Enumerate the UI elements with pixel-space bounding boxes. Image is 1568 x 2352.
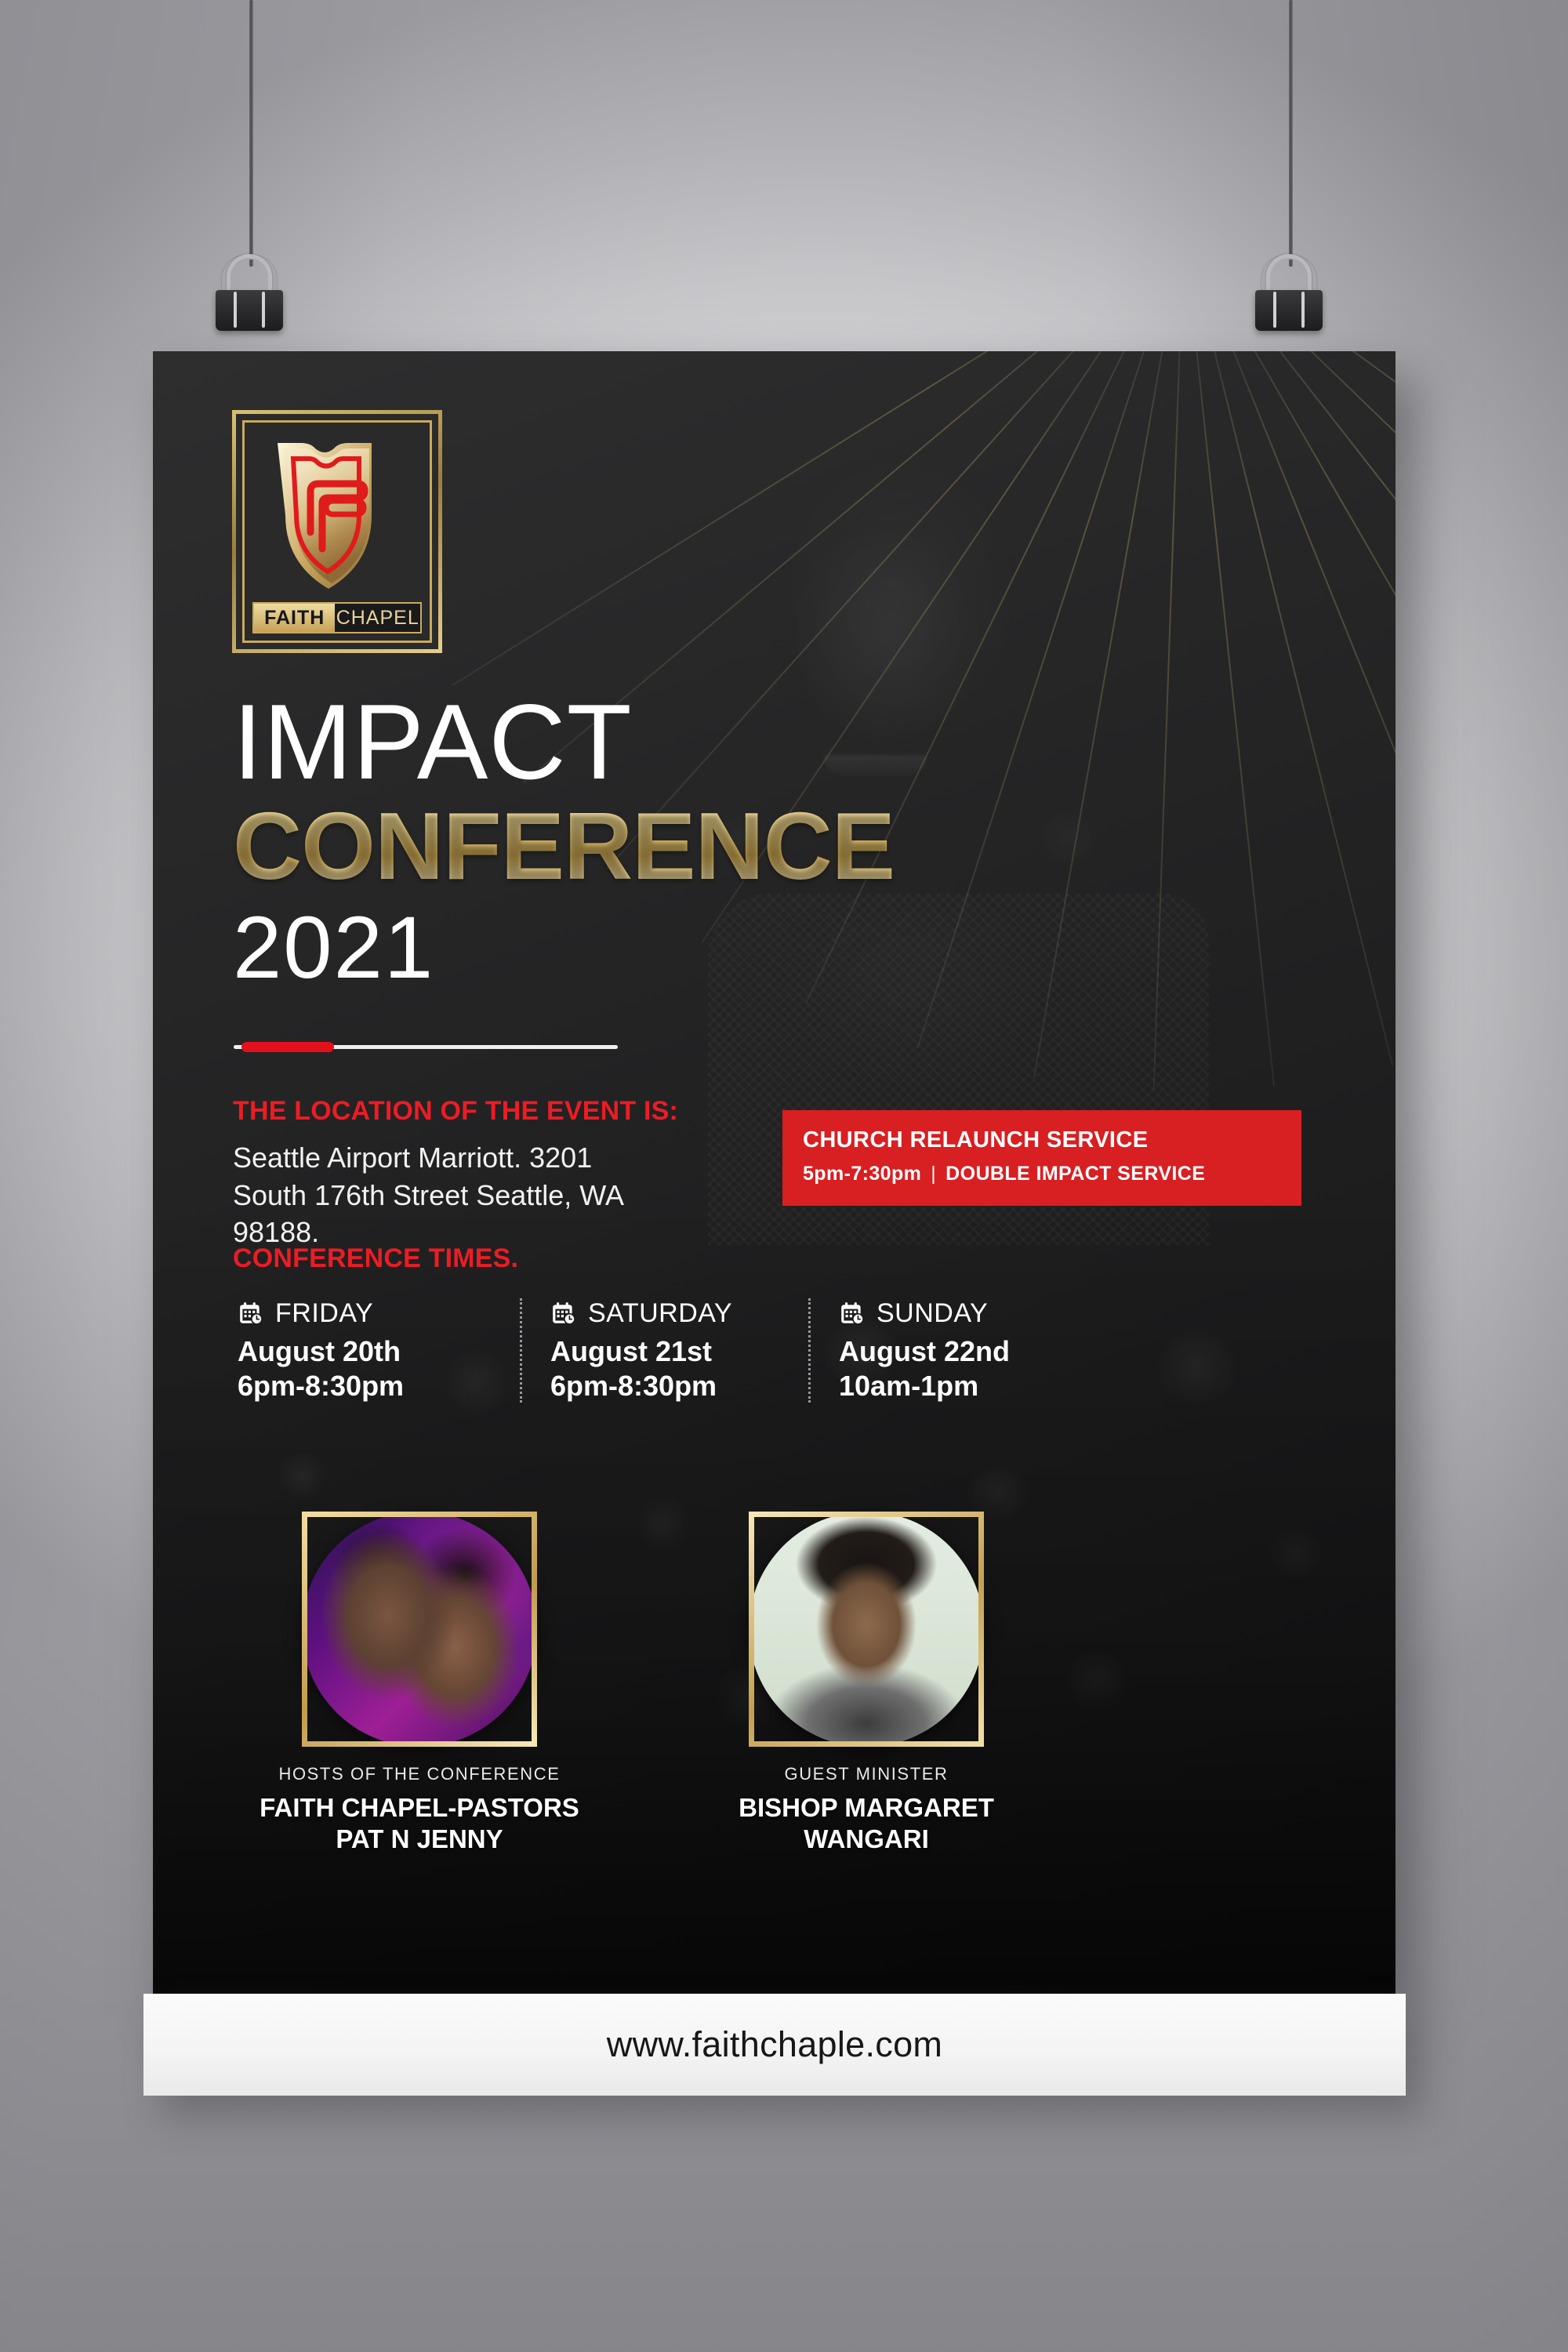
logo-word-faith: FAITH bbox=[254, 604, 335, 632]
speakers-row: HOSTS OF THE CONFERENCE FAITH CHAPEL-PAS… bbox=[239, 1512, 1141, 1856]
accent-divider-red-segment bbox=[241, 1042, 334, 1052]
calendar-clock-icon bbox=[839, 1301, 866, 1327]
day-date-friday: August 20th bbox=[238, 1335, 520, 1368]
accent-divider bbox=[234, 1045, 618, 1049]
conference-day-sunday: SUNDAY August 22nd 10am-1pm bbox=[808, 1298, 1097, 1403]
website-footer-bar: www.faithchaple.com bbox=[143, 1994, 1406, 2096]
guest-role-label: GUEST MINISTER bbox=[686, 1764, 1047, 1784]
title-year: 2021 bbox=[233, 898, 895, 996]
hosts-portrait-photo bbox=[302, 1512, 537, 1747]
guest-name-line1: BISHOP MARGARET bbox=[739, 1793, 994, 1822]
poster-title-block: IMPACT CONFERENCE 2021 bbox=[233, 688, 895, 996]
speaker-guest-minister: GUEST MINISTER BISHOP MARGARET WANGARI bbox=[686, 1512, 1047, 1856]
day-date-sunday: August 22nd bbox=[839, 1335, 1097, 1368]
day-hours-saturday: 6pm-8:30pm bbox=[550, 1370, 808, 1403]
event-poster: FAITH CHAPEL IMPACT CONFERENCE 2021 THE … bbox=[153, 351, 1396, 1994]
church-relaunch-banner: CHURCH RELAUNCH SERVICE 5pm-7:30pm|DOUBL… bbox=[782, 1110, 1301, 1206]
day-label-saturday: SATURDAY bbox=[588, 1298, 732, 1329]
relaunch-subtitle: DOUBLE IMPACT SERVICE bbox=[946, 1163, 1205, 1185]
guest-minister-portrait-photo bbox=[749, 1512, 984, 1747]
location-address: Seattle Airport Marriott. 3201 South 176… bbox=[233, 1139, 656, 1251]
conference-day-friday: FRIDAY August 20th 6pm-8:30pm bbox=[231, 1298, 520, 1403]
location-heading: THE LOCATION OF THE EVENT IS: bbox=[233, 1096, 678, 1127]
day-label-sunday: SUNDAY bbox=[877, 1298, 988, 1329]
hanging-wire-left bbox=[249, 0, 253, 267]
day-date-saturday: August 21st bbox=[550, 1335, 808, 1368]
website-url[interactable]: www.faithchaple.com bbox=[607, 2024, 942, 2065]
day-hours-friday: 6pm-8:30pm bbox=[238, 1370, 520, 1403]
calendar-clock-icon bbox=[550, 1301, 577, 1327]
hosts-role-label: HOSTS OF THE CONFERENCE bbox=[239, 1764, 600, 1784]
relaunch-separator: | bbox=[921, 1163, 946, 1185]
binder-clip-left bbox=[191, 227, 308, 345]
faith-chapel-logo: FAITH CHAPEL bbox=[232, 410, 442, 653]
title-conference: CONFERENCE bbox=[233, 795, 895, 898]
calendar-clock-icon bbox=[238, 1301, 264, 1327]
speaker-hosts: HOSTS OF THE CONFERENCE FAITH CHAPEL-PAS… bbox=[239, 1512, 600, 1856]
day-label-friday: FRIDAY bbox=[275, 1298, 373, 1329]
relaunch-time: 5pm-7:30pm bbox=[803, 1163, 921, 1185]
conference-day-saturday: SATURDAY August 21st 6pm-8:30pm bbox=[520, 1298, 808, 1403]
hosts-name-line2: PAT N JENNY bbox=[336, 1824, 503, 1853]
title-impact: IMPACT bbox=[233, 688, 895, 795]
hosts-name-line1: FAITH CHAPEL-PASTORS bbox=[260, 1793, 579, 1822]
hanging-wire-right bbox=[1289, 0, 1293, 267]
conference-times-heading: CONFERENCE TIMES. bbox=[233, 1243, 518, 1274]
shield-icon bbox=[270, 430, 405, 593]
guest-name-line2: WANGARI bbox=[804, 1824, 929, 1853]
binder-clip-right bbox=[1230, 227, 1348, 345]
relaunch-title: CHURCH RELAUNCH SERVICE bbox=[803, 1127, 1281, 1153]
logo-word-chapel: CHAPEL bbox=[335, 604, 420, 632]
conference-times-row: FRIDAY August 20th 6pm-8:30pm bbox=[231, 1298, 1117, 1403]
day-hours-sunday: 10am-1pm bbox=[839, 1370, 1097, 1403]
